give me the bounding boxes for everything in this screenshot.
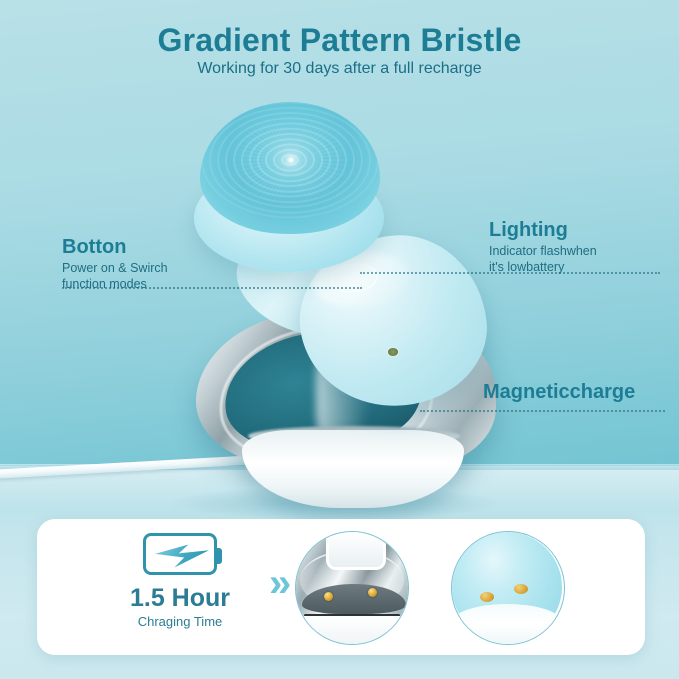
infographic-canvas: Gradient Pattern Bristle Working for 30 …: [0, 0, 679, 679]
lightning-bolt-icon: [155, 543, 209, 569]
photo-device-contacts: [451, 531, 565, 645]
dock-gold-pin-left: [324, 592, 333, 601]
page-subtitle: Working for 30 days after a full recharg…: [0, 60, 679, 78]
photo-dock-contacts: [295, 531, 409, 645]
callout-lighting-title: Lighting: [489, 219, 597, 242]
callout-magnetic-charge-title: Magneticcharge: [483, 381, 635, 404]
battery-charging-icon: [143, 533, 217, 575]
device-white-base: [452, 604, 562, 644]
dock-top-recess: [326, 531, 386, 570]
leader-line-magnetic: [420, 410, 665, 412]
silicone-bristle-brush-head: [186, 96, 392, 268]
callout-magnetic-charge: Magneticcharge: [483, 381, 635, 404]
callout-lighting-desc-line2: it's lowbattery: [489, 260, 597, 276]
callout-button-desc-line2: function modes: [62, 277, 168, 293]
dock-base: [242, 430, 464, 508]
device-gold-contact-left: [480, 592, 494, 602]
callout-button-title: Botton: [62, 236, 168, 259]
callout-button-desc-line1: Power on & Swirch: [62, 261, 168, 277]
brush-bristle-pad: [200, 102, 380, 234]
device-gold-contact-right: [514, 584, 528, 594]
bristle-spokes: [200, 102, 380, 234]
dock-white-base: [296, 616, 408, 645]
callout-lighting-desc-line1: Indicator flashwhen: [489, 244, 597, 260]
callout-lighting: Lighting Indicator flashwhen it's lowbat…: [489, 219, 597, 275]
charging-hours: 1.5 Hour: [105, 584, 255, 613]
dock-gold-pin-right: [368, 588, 377, 597]
callout-button: Botton Power on & Swirch function modes: [62, 236, 168, 292]
charging-info-panel: 1.5 Hour Chraging Time »: [37, 519, 645, 655]
double-chevron-right-icon: »: [269, 563, 285, 603]
charging-time-caption: Chraging Time: [105, 614, 255, 629]
charging-time-block: 1.5 Hour Chraging Time: [105, 533, 255, 629]
page-title: Gradient Pattern Bristle: [0, 22, 679, 59]
indicator-led: [388, 348, 398, 356]
